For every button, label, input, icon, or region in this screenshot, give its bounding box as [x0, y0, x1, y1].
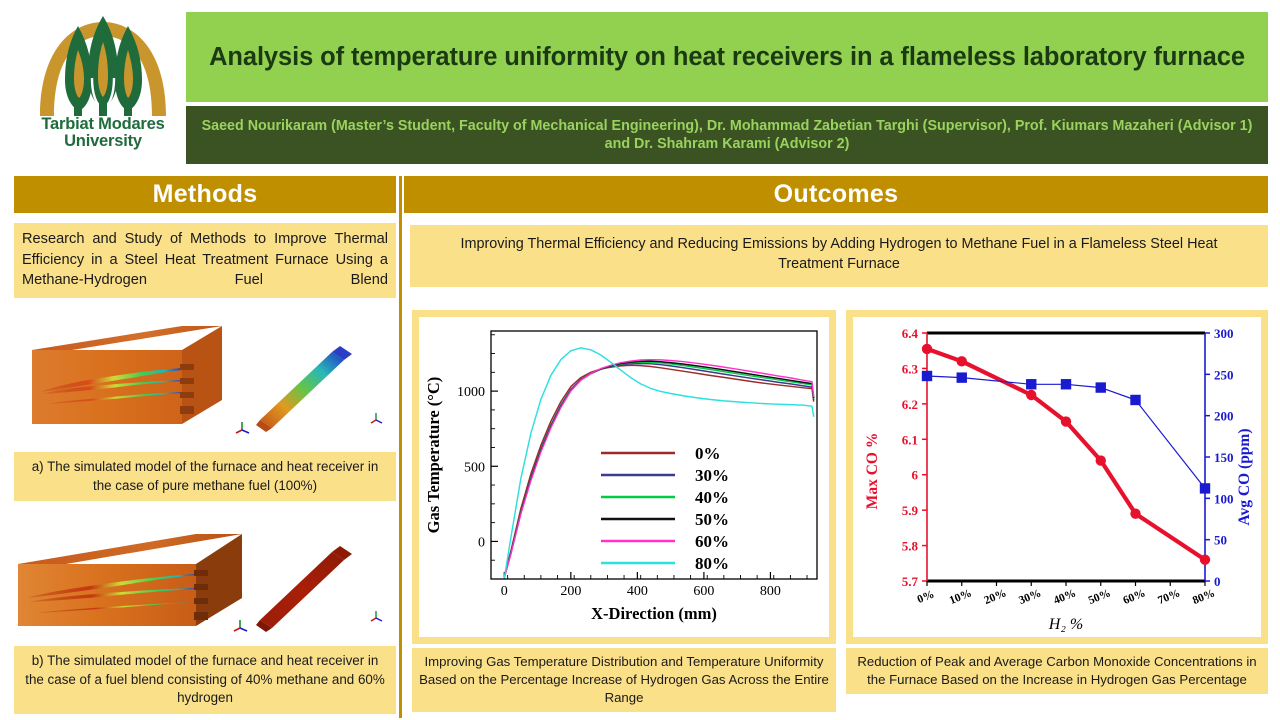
svg-text:10%: 10%: [948, 587, 974, 607]
section-header-outcomes-label: Outcomes: [774, 180, 899, 209]
page-title: Analysis of temperature uniformity on he…: [209, 42, 1245, 72]
svg-text:6.1: 6.1: [902, 432, 918, 447]
carbon-monoxide-chart-panel: 5.75.85.966.16.26.36.4050100150200250300…: [846, 310, 1268, 644]
svg-text:50%: 50%: [695, 510, 729, 529]
svg-text:250: 250: [1214, 367, 1234, 382]
poster-title-bar: Analysis of temperature uniformity on he…: [186, 12, 1268, 102]
figure-caption-b: b) The simulated model of the furnace an…: [14, 646, 396, 714]
svg-text:6.4: 6.4: [902, 326, 919, 341]
svg-text:600: 600: [693, 584, 714, 599]
svg-text:0: 0: [478, 535, 485, 550]
svg-text:Gas Temperature (°C): Gas Temperature (°C): [424, 377, 443, 534]
axis-triad-icon-3: [234, 620, 247, 631]
section-header-outcomes: Outcomes: [404, 176, 1268, 213]
svg-text:40%: 40%: [695, 488, 729, 507]
axis-triad-icon: [236, 422, 249, 433]
svg-text:150: 150: [1214, 450, 1234, 465]
poster-header: Tarbiat Modares University Analysis of t…: [0, 0, 1280, 170]
svg-text:0%: 0%: [916, 588, 936, 606]
svg-text:200: 200: [1214, 409, 1234, 424]
svg-text:40%: 40%: [1052, 587, 1078, 607]
svg-text:60%: 60%: [1121, 587, 1147, 607]
svg-text:50%: 50%: [1087, 587, 1113, 607]
carbon-monoxide-chart: 5.75.85.966.16.26.36.4050100150200250300…: [853, 317, 1261, 637]
logo-line-2: University: [18, 133, 188, 150]
svg-text:80%: 80%: [1191, 587, 1217, 607]
axis-triad-icon-4: [371, 611, 382, 621]
svg-text:6: 6: [912, 468, 919, 483]
svg-text:20%: 20%: [982, 587, 1008, 607]
svg-text:80%: 80%: [695, 554, 729, 573]
outcomes-intro-text: Improving Thermal Efficiency and Reducin…: [410, 225, 1268, 287]
svg-text:5.8: 5.8: [902, 539, 919, 554]
figure-caption-a: a) The simulated model of the furnace an…: [14, 452, 396, 501]
svg-text:5.9: 5.9: [902, 503, 919, 518]
svg-text:800: 800: [760, 584, 781, 599]
gas-temperature-chart-caption: Improving Gas Temperature Distribution a…: [412, 648, 836, 712]
svg-text:H₂ %: H₂ %: [1048, 616, 1083, 633]
svg-text:1000: 1000: [457, 385, 485, 400]
gas-temperature-chart-panel: 0200400600800050010000%30%40%50%60%80%X-…: [412, 310, 836, 644]
svg-text:6.3: 6.3: [902, 361, 919, 376]
svg-text:Max CO %: Max CO %: [864, 433, 881, 510]
svg-text:50: 50: [1214, 533, 1227, 548]
svg-text:30%: 30%: [695, 466, 729, 485]
logo-line-1: Tarbiat Modares: [18, 116, 188, 133]
poster-authors-bar: Saeed Nourikaram (Master’s Student, Facu…: [186, 106, 1268, 164]
svg-text:300: 300: [1214, 326, 1234, 341]
svg-text:0%: 0%: [695, 444, 721, 463]
gas-temperature-chart: 0200400600800050010000%30%40%50%60%80%X-…: [419, 317, 829, 637]
axis-triad-icon-2: [371, 413, 382, 423]
svg-text:70%: 70%: [1156, 587, 1182, 607]
figure-furnace-methane-hydrogen: [14, 512, 396, 640]
university-logo-text: Tarbiat Modares University: [18, 116, 188, 150]
university-logo-mark: [18, 8, 188, 120]
figure-furnace-pure-methane: [14, 312, 396, 440]
svg-text:0: 0: [1214, 574, 1221, 589]
column-divider: [399, 176, 402, 718]
section-header-methods: Methods: [14, 176, 396, 213]
svg-text:200: 200: [560, 584, 581, 599]
university-logo: Tarbiat Modares University: [18, 8, 188, 168]
svg-text:Avg CO (ppm): Avg CO (ppm): [1236, 428, 1253, 525]
svg-text:X-Direction (mm): X-Direction (mm): [591, 604, 717, 623]
svg-text:400: 400: [627, 584, 648, 599]
svg-text:30%: 30%: [1017, 587, 1043, 607]
svg-text:5.7: 5.7: [902, 574, 919, 589]
authors-list: Saeed Nourikaram (Master’s Student, Facu…: [200, 117, 1254, 154]
svg-text:100: 100: [1214, 491, 1234, 506]
svg-text:500: 500: [464, 460, 485, 475]
carbon-monoxide-chart-caption: Reduction of Peak and Average Carbon Mon…: [846, 648, 1268, 694]
poster-root: Tarbiat Modares University Analysis of t…: [0, 0, 1280, 720]
svg-text:0: 0: [501, 584, 508, 599]
section-header-methods-label: Methods: [153, 180, 258, 209]
svg-text:60%: 60%: [695, 532, 729, 551]
methods-intro-text: Research and Study of Methods to Improve…: [14, 223, 396, 298]
svg-text:6.2: 6.2: [902, 397, 918, 412]
